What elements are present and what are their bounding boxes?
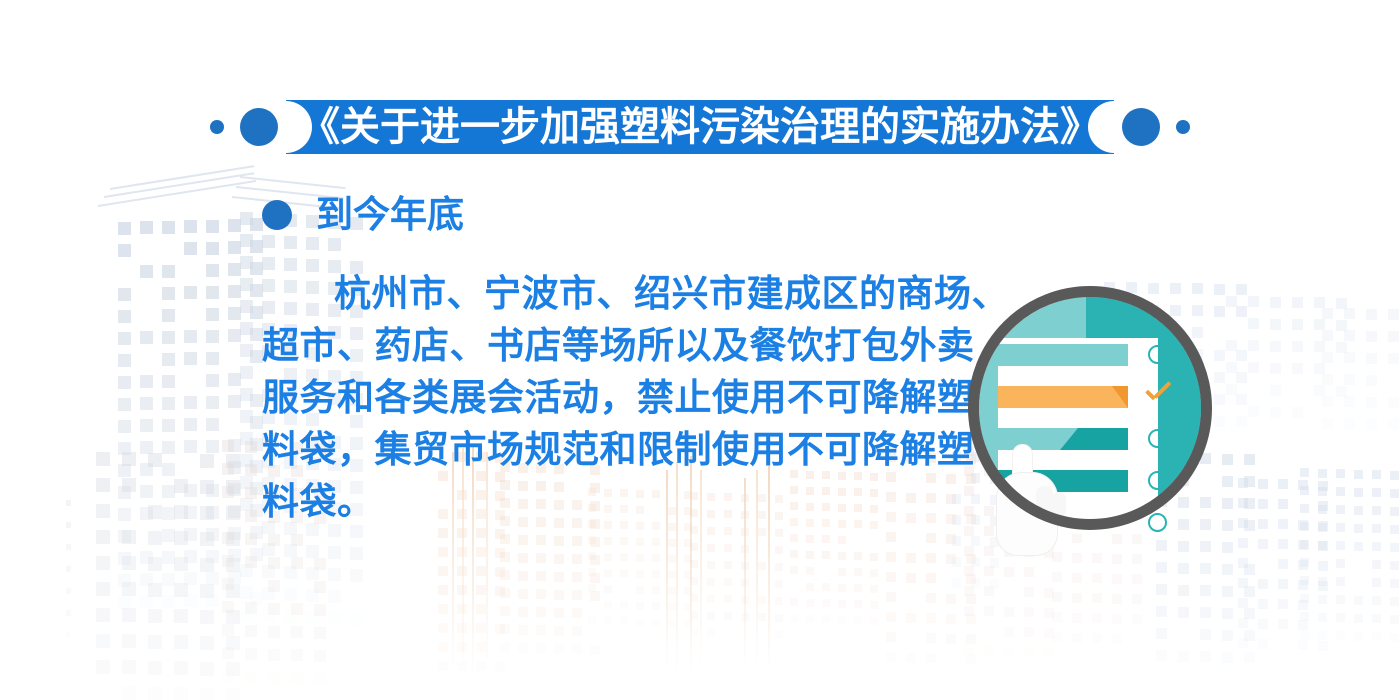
building-roofline [240, 176, 346, 189]
building-roofline [104, 172, 254, 198]
body-line: 料袋。 [262, 476, 968, 528]
title-banner: 《关于进一步加强塑料污染治理的实施办法》 [286, 100, 1114, 154]
body-paragraph: 杭州市、宁波市、绍兴市建成区的商场、 超市、药店、书店等场所以及餐饮打包外卖 服… [262, 268, 968, 528]
title-right-small-dot-icon [1176, 120, 1190, 134]
checkbox-circle-icon[interactable] [1148, 513, 1167, 532]
poster-canvas: 《关于进一步加强塑料污染治理的实施办法》 到今年底 杭州市、宁波市、绍兴市建成区… [0, 0, 1400, 700]
subtitle-text: 到今年底 [316, 196, 464, 233]
building-roofline [98, 180, 256, 207]
subtitle-bullet-icon [262, 200, 292, 230]
body-line: 超市、药店、书店等场所以及餐饮打包外卖 [262, 320, 968, 372]
title-banner-row: 《关于进一步加强塑料污染治理的实施办法》 [0, 96, 1400, 158]
body-line: 服务和各类展会活动，禁止使用不可降解塑 [262, 372, 968, 424]
title-left-small-dot-icon [210, 120, 224, 134]
illustration-ring [968, 286, 1212, 530]
page-title: 《关于进一步加强塑料污染治理的实施办法》 [300, 107, 1100, 147]
body-line: 料袋，集贸市场规范和限制使用不可降解塑 [262, 424, 968, 476]
body-line: 杭州市、宁波市、绍兴市建成区的商场、 [262, 268, 968, 320]
title-right-large-dot-icon [1122, 108, 1160, 146]
subtitle-row: 到今年底 [262, 196, 464, 233]
checklist-illustration [968, 286, 1212, 530]
building-roofline [110, 165, 255, 190]
title-left-large-dot-icon [240, 108, 278, 146]
